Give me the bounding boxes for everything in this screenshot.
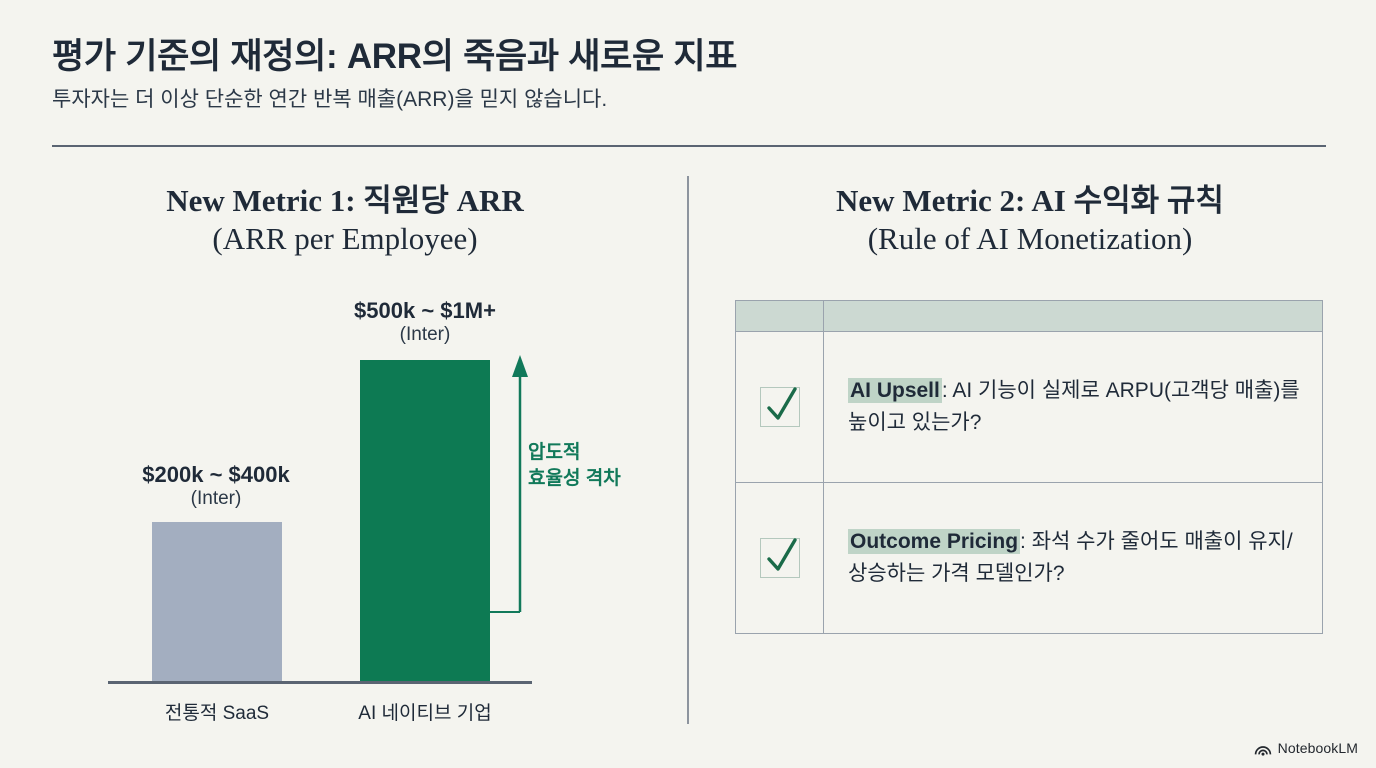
right-panel-heading: New Metric 2: AI 수익화 규칙 (Rule of AI Mone… xyxy=(735,182,1325,258)
ai-monetization-rule-table: AI Upsell: AI 기능이 실제로 ARPU(고객당 매출)를 높이고 … xyxy=(735,300,1323,634)
bar-ai-native xyxy=(360,360,490,682)
efficiency-gap-label: 압도적 효율성 격차 xyxy=(528,440,621,491)
bar-value-text-traditional-saas: $200k ~ $400k xyxy=(142,462,289,487)
notebooklm-arc-icon xyxy=(1254,740,1272,756)
table-cell-description: Outcome Pricing: 좌석 수가 줄어도 매출이 유지/상승하는 가… xyxy=(824,483,1322,633)
table-cell-checkbox[interactable] xyxy=(736,332,824,482)
table-header-row xyxy=(736,301,1322,332)
slide-root: 평가 기준의 재정의: ARR의 죽음과 새로운 지표 투자자는 더 이상 단순… xyxy=(0,0,1376,768)
brand-footer: NotebookLM xyxy=(1254,740,1358,756)
bar-value-sub-traditional-saas: (Inter) xyxy=(92,488,340,510)
table-cell-checkbox[interactable] xyxy=(736,483,824,633)
efficiency-gap-label-line1: 압도적 xyxy=(528,442,580,463)
rule-term-label-2: Outcome Pricing xyxy=(848,529,1020,554)
bar-value-label-traditional-saas: $200k ~ $400k (Inter) xyxy=(92,462,340,510)
table-header-cell-text xyxy=(824,301,1322,331)
bar-value-label-ai-native: $500k ~ $1M+ (Inter) xyxy=(301,298,549,346)
bar-category-label-ai-native: AI 네이티브 기업 xyxy=(300,698,550,725)
arr-per-employee-bar-chart: $200k ~ $400k (Inter) $500k ~ $1M+ (Inte… xyxy=(0,0,687,768)
right-panel-heading-line2: (Rule of AI Monetization) xyxy=(735,220,1325,258)
bar-value-text-ai-native: $500k ~ $1M+ xyxy=(354,298,496,323)
chart-baseline-axis xyxy=(108,681,532,684)
table-row[interactable]: AI Upsell: AI 기능이 실제로 ARPU(고객당 매출)를 높이고 … xyxy=(736,332,1322,483)
column-divider xyxy=(687,176,689,724)
right-panel-heading-line1: New Metric 2: AI 수익화 규칙 xyxy=(735,182,1325,220)
table-header-cell-check xyxy=(736,301,824,331)
checkbox-checked-icon[interactable] xyxy=(760,538,800,578)
rule-term-label-1: AI Upsell xyxy=(848,378,942,403)
bar-value-sub-ai-native: (Inter) xyxy=(301,324,549,346)
efficiency-gap-label-line2: 효율성 격차 xyxy=(528,468,621,489)
checkbox-checked-icon[interactable] xyxy=(760,387,800,427)
table-cell-description: AI Upsell: AI 기능이 실제로 ARPU(고객당 매출)를 높이고 … xyxy=(824,332,1322,482)
bar-traditional-saas xyxy=(152,522,282,682)
table-row[interactable]: Outcome Pricing: 좌석 수가 줄어도 매출이 유지/상승하는 가… xyxy=(736,483,1322,633)
brand-name-label: NotebookLM xyxy=(1278,740,1358,756)
